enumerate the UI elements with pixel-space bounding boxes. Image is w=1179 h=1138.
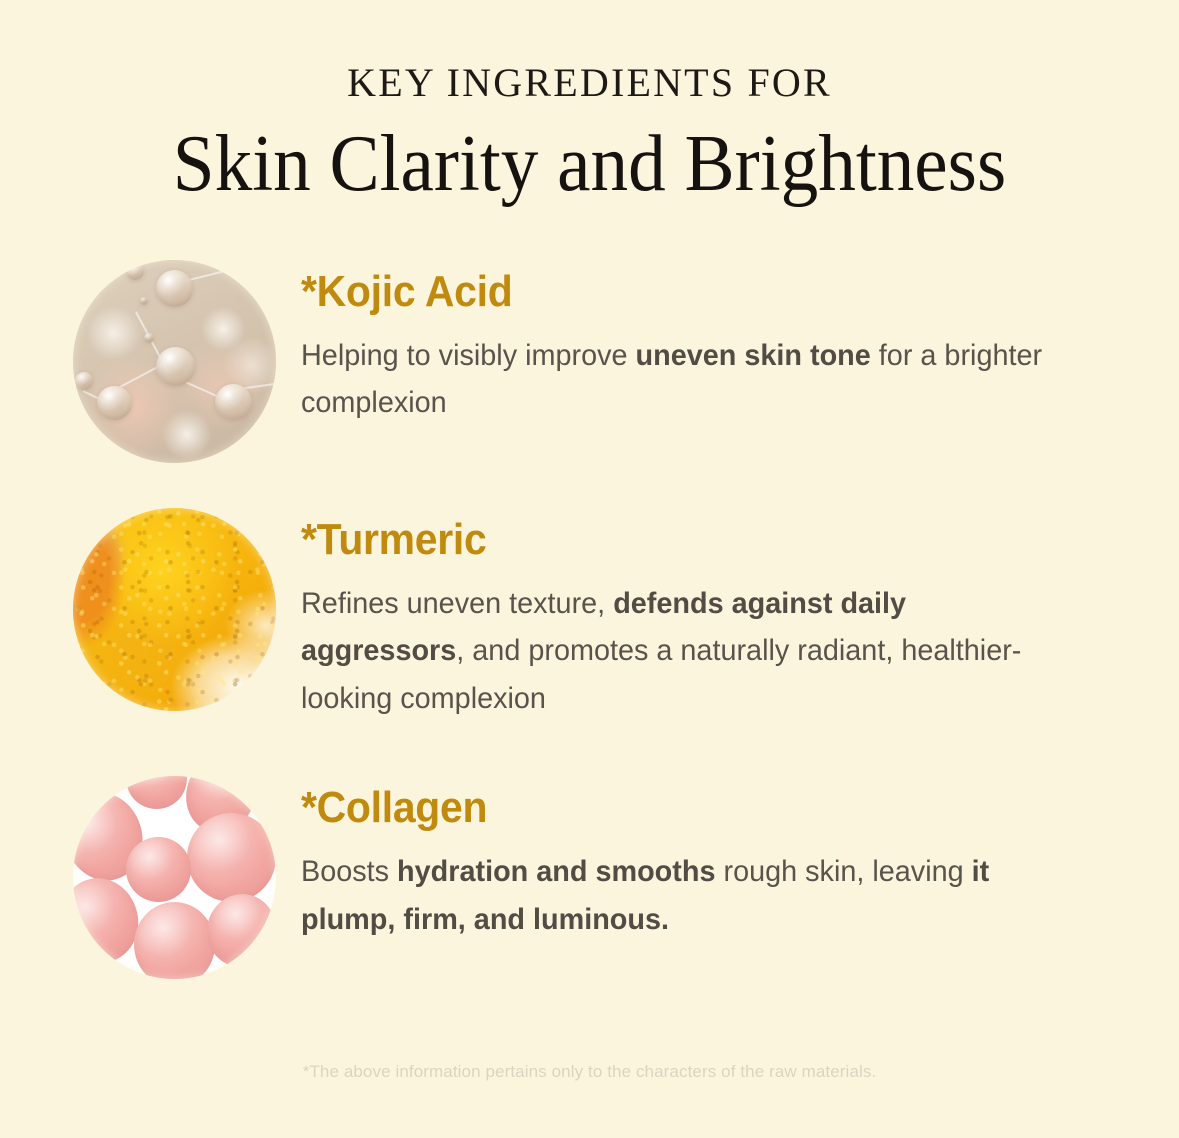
molecule-sphere-icon <box>156 270 193 307</box>
footnote-disclaimer: *The above information pertains only to … <box>0 1062 1179 1082</box>
collagen-thumbnail-wrap <box>73 776 276 979</box>
molecule-bond-icon <box>184 268 236 283</box>
ingredient-description-turmeric: Refines uneven texture, defends against … <box>301 580 1059 722</box>
ingredient-name-kojic-acid: *Kojic Acid <box>301 270 1036 314</box>
header: KEY INGREDIENTS FOR Skin Clarity and Bri… <box>0 0 1179 208</box>
molecule-sphere-icon <box>75 372 93 390</box>
molecule-sphere-icon <box>126 262 144 280</box>
ingredient-description-collagen: Boosts hydration and smooths rough skin,… <box>301 848 1059 943</box>
kojic-acid-molecule-image <box>73 260 276 463</box>
collagen-capsule-icon <box>134 902 215 979</box>
kojic-acid-text-block: *Kojic Acid Helping to visibly improve u… <box>276 260 1091 427</box>
molecule-sphere-icon <box>156 347 195 386</box>
ingredient-list: *Kojic Acid Helping to visibly improve u… <box>0 260 1179 979</box>
ingredient-item-kojic-acid: *Kojic Acid Helping to visibly improve u… <box>73 260 1179 463</box>
ingredient-item-collagen: *Collagen Boosts hydration and smooths r… <box>73 776 1179 979</box>
turmeric-powder-image <box>73 508 276 711</box>
molecule-sphere-icon <box>215 384 252 421</box>
ingredient-item-turmeric: *Turmeric Refines uneven texture, defend… <box>73 508 1179 722</box>
molecule-sphere-icon <box>140 297 148 305</box>
ingredient-description-kojic-acid: Helping to visibly improve uneven skin t… <box>301 332 1059 427</box>
kojic-acid-thumbnail-wrap <box>73 260 276 463</box>
molecule-sphere-icon <box>97 386 132 421</box>
collagen-capsule-icon <box>187 813 276 902</box>
page-title: Skin Clarity and Brightness <box>35 120 1143 208</box>
collagen-capsules-image <box>73 776 276 979</box>
collagen-capsule-icon <box>126 837 191 902</box>
ingredient-name-turmeric: *Turmeric <box>301 518 1036 562</box>
collagen-text-block: *Collagen Boosts hydration and smooths r… <box>276 776 1091 943</box>
ingredient-name-collagen: *Collagen <box>301 786 1036 830</box>
turmeric-thumbnail-wrap <box>73 508 276 711</box>
turmeric-text-block: *Turmeric Refines uneven texture, defend… <box>276 508 1091 722</box>
eyebrow-heading: KEY INGREDIENTS FOR <box>0 62 1179 104</box>
powder-texture <box>73 508 276 711</box>
